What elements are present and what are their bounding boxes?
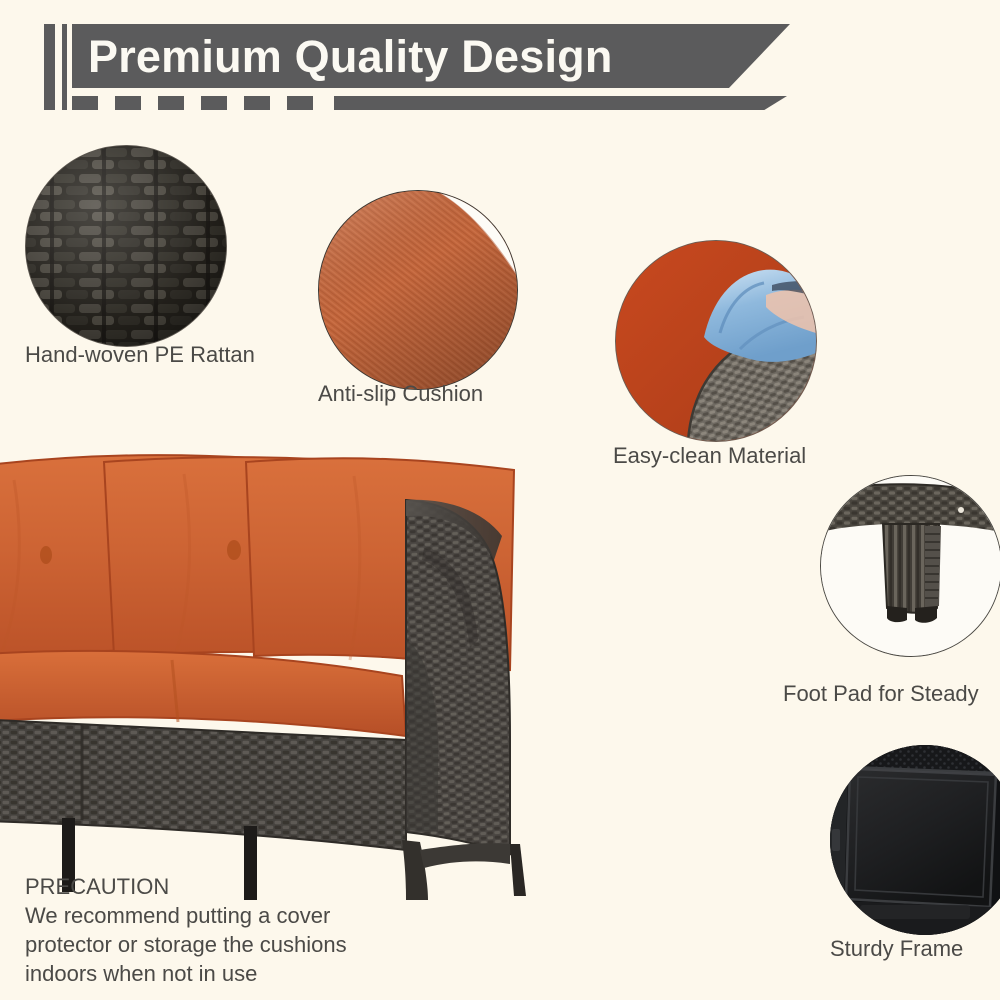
dash-segment (287, 96, 313, 110)
feature-label-easy-clean: Easy-clean Material (613, 443, 806, 468)
header-banner: Premium Quality Design (0, 0, 1000, 125)
dash-segment (201, 96, 227, 110)
precaution-block: PRECAUTION We recommend putting a cover … (25, 872, 405, 988)
banner-plate: Premium Quality Design (72, 24, 790, 88)
precaution-line-1: We recommend putting a cover (25, 901, 405, 930)
dash-segment (158, 96, 184, 110)
dash-segment (115, 96, 141, 110)
precaution-line-2: protector or storage the cushions (25, 930, 405, 959)
infographic-page: Premium Quality Design (0, 0, 1000, 1000)
precaution-line-3: indoors when not in use (25, 959, 405, 988)
feature-image-rattan (25, 145, 227, 347)
dash-segment (72, 96, 98, 110)
precaution-heading: PRECAUTION (25, 872, 405, 901)
dash-long-segment (334, 96, 787, 110)
banner-dashed-underline (72, 96, 787, 110)
feature-image-easy-clean (615, 240, 817, 442)
feature-image-foot-pad (820, 475, 1000, 657)
page-title: Premium Quality Design (72, 34, 613, 79)
banner-accent-bar-thin (62, 24, 67, 110)
product-sofa-image (0, 440, 654, 900)
feature-label-sturdy-frame: Sturdy Frame (830, 936, 963, 961)
dash-segment (244, 96, 270, 110)
banner-accent-bar-thick (44, 24, 55, 110)
feature-image-cushion (318, 190, 518, 390)
sofa-armrest (406, 500, 510, 854)
feature-label-foot-pad: Foot Pad for Steady (783, 681, 979, 706)
feature-image-sturdy-frame (830, 745, 1000, 935)
sofa-woven-base (0, 718, 406, 850)
feature-label-rattan: Hand-woven PE Rattan (25, 342, 255, 367)
feature-label-cushion: Anti-slip Cushion (318, 381, 483, 406)
